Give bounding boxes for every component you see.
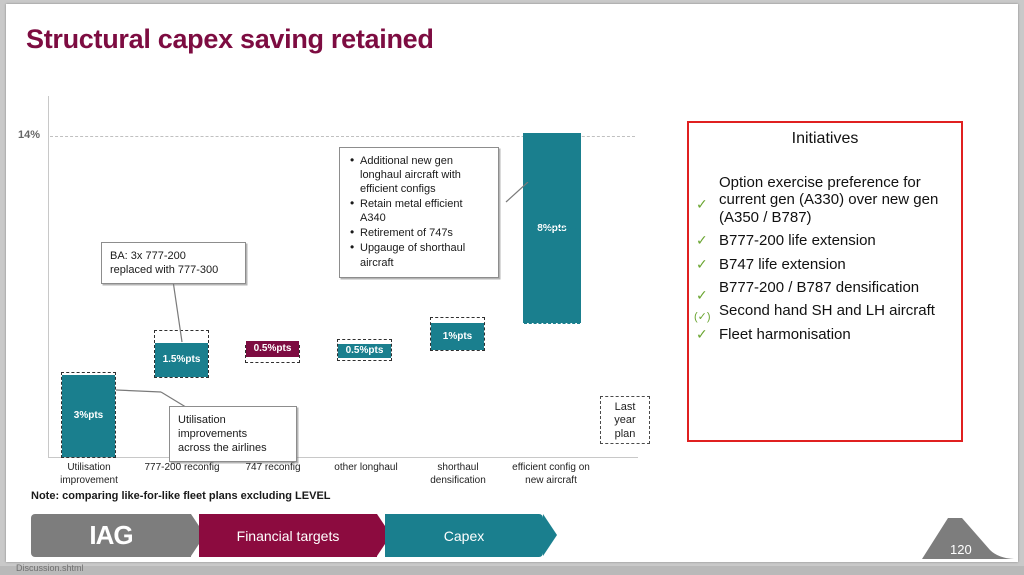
- x-label-line1: efficient config on: [496, 462, 606, 475]
- x-label-line1: Utilisation: [46, 462, 132, 475]
- footnote: Note: comparing like-for-like fleet plan…: [31, 490, 331, 502]
- initiative-item[interactable]: ✓ B777-200 life extension: [693, 232, 955, 249]
- callout-utilisation-note: Utilisation improvements across the airl…: [169, 406, 297, 462]
- callout-bullet: Retirement of 747s: [348, 226, 490, 240]
- initiative-item[interactable]: (✓) Second hand SH and LH aircraft: [693, 302, 955, 319]
- bar-label-747-reconfig: 0.5%pts: [246, 343, 299, 354]
- x-label-line2: new aircraft: [496, 475, 606, 488]
- callout-ba-note: BA: 3x 777-200 replaced with 777-300: [101, 242, 246, 284]
- ghost-bar-efficient-config: [524, 228, 580, 324]
- check-icon: ✓: [696, 287, 708, 303]
- x-label-line1: other longhaul: [321, 462, 411, 475]
- bar-label-777-reconfig: 1.5%pts: [155, 354, 208, 365]
- callout-ba-line1: BA: 3x 777-200: [110, 249, 237, 263]
- initiatives-panel: Initiatives ✓ Option exercise preference…: [687, 121, 963, 442]
- check-icon: ✓: [696, 232, 708, 248]
- footer-tab-label: Financial targets: [237, 528, 340, 544]
- x-axis-label-777-reconfig: 777-200 reconfig: [133, 462, 231, 475]
- bar-label-utilisation: 3%pts: [62, 410, 115, 421]
- x-label-line1: shorthaul: [414, 462, 502, 475]
- bar-utilisation[interactable]: 3%pts: [62, 375, 115, 457]
- bar-other-longhaul[interactable]: 0.5%pts: [338, 344, 391, 358]
- initiative-item[interactable]: ✓ B777-200 / B787 densification: [693, 279, 955, 296]
- iag-logo: IAG: [89, 520, 132, 551]
- callout-efficient-note: Additional new gen longhaul aircraft wit…: [339, 147, 499, 278]
- check-partial-icon: (✓): [694, 311, 711, 324]
- x-axis-label-utilisation: Utilisation improvement: [46, 462, 132, 487]
- status-text: Discussion.shtml: [16, 563, 84, 573]
- bar-747-reconfig[interactable]: 0.5%pts: [246, 341, 299, 357]
- slide-canvas: Structural capex saving retained 14% 3%p…: [6, 4, 1018, 562]
- initiative-item[interactable]: ✓ Option exercise preference for current…: [693, 174, 955, 226]
- initiatives-heading: Initiatives: [689, 123, 961, 148]
- callout-bullet: Retain metal efficient A340: [348, 197, 490, 225]
- initiative-item[interactable]: ✓ B747 life extension: [693, 256, 955, 273]
- footer-tab-label: Capex: [444, 528, 484, 544]
- legend-line1: Last: [604, 401, 646, 414]
- callout-utilisation-line2: improvements: [178, 427, 288, 441]
- initiative-label: B777-200 life extension: [719, 232, 876, 249]
- y-axis-line: [48, 96, 49, 458]
- x-axis-label-efficient-config: efficient config on new aircraft: [496, 462, 606, 487]
- bar-label-shorthaul: 1%pts: [431, 331, 484, 342]
- initiative-item[interactable]: ✓ Fleet harmonisation: [693, 326, 955, 343]
- footer-logo-segment: IAG: [31, 514, 191, 557]
- legend-line3: plan: [604, 428, 646, 441]
- bar-shorthaul[interactable]: 1%pts: [431, 323, 484, 350]
- x-label-line1: 747 reconfig: [230, 462, 316, 475]
- waterfall-chart: 14% 3%pts 1.5%pts 0.5%pts 0.5%pts 1%pts …: [6, 4, 666, 504]
- callout-utilisation-line1: Utilisation: [178, 413, 288, 427]
- x-label-line1: 777-200 reconfig: [133, 462, 231, 475]
- legend-line2: year: [604, 414, 646, 427]
- bar-777-reconfig[interactable]: 1.5%pts: [155, 343, 208, 377]
- initiative-label: Second hand SH and LH aircraft: [719, 302, 935, 319]
- x-axis-label-747-reconfig: 747 reconfig: [230, 462, 316, 475]
- x-axis-line: [48, 457, 638, 458]
- footer-tab-financial-targets[interactable]: Financial targets: [199, 514, 377, 557]
- initiative-label: B747 life extension: [719, 256, 846, 273]
- callout-bullet: Additional new gen longhaul aircraft wit…: [348, 154, 490, 196]
- status-strip: [0, 566, 1024, 575]
- y-axis-tick-label: 14%: [18, 129, 40, 141]
- initiative-label: Option exercise preference for current g…: [719, 174, 938, 226]
- callout-bullet: Upgauge of shorthaul aircraft: [348, 241, 490, 269]
- bar-label-other-longhaul: 0.5%pts: [338, 345, 391, 356]
- page-number: 120: [950, 542, 972, 557]
- check-icon: ✓: [696, 196, 708, 212]
- footer-tab-capex[interactable]: Capex: [385, 514, 543, 557]
- x-axis-label-shorthaul: shorthaul densification: [414, 462, 502, 487]
- initiatives-list: ✓ Option exercise preference for current…: [689, 148, 961, 343]
- x-axis-label-other-longhaul: other longhaul: [321, 462, 411, 475]
- x-label-line2: improvement: [46, 475, 132, 488]
- initiative-label: Fleet harmonisation: [719, 326, 851, 343]
- check-icon: ✓: [696, 256, 708, 272]
- legend-last-year-plan: Last year plan: [600, 396, 650, 444]
- check-icon: ✓: [696, 326, 708, 342]
- callout-ba-line2: replaced with 777-300: [110, 263, 237, 277]
- callout-utilisation-line3: across the airlines: [178, 441, 288, 455]
- x-label-line2: densification: [414, 475, 502, 488]
- initiative-label: B777-200 / B787 densification: [719, 279, 919, 296]
- callout-bullet-list: Additional new gen longhaul aircraft wit…: [348, 154, 490, 270]
